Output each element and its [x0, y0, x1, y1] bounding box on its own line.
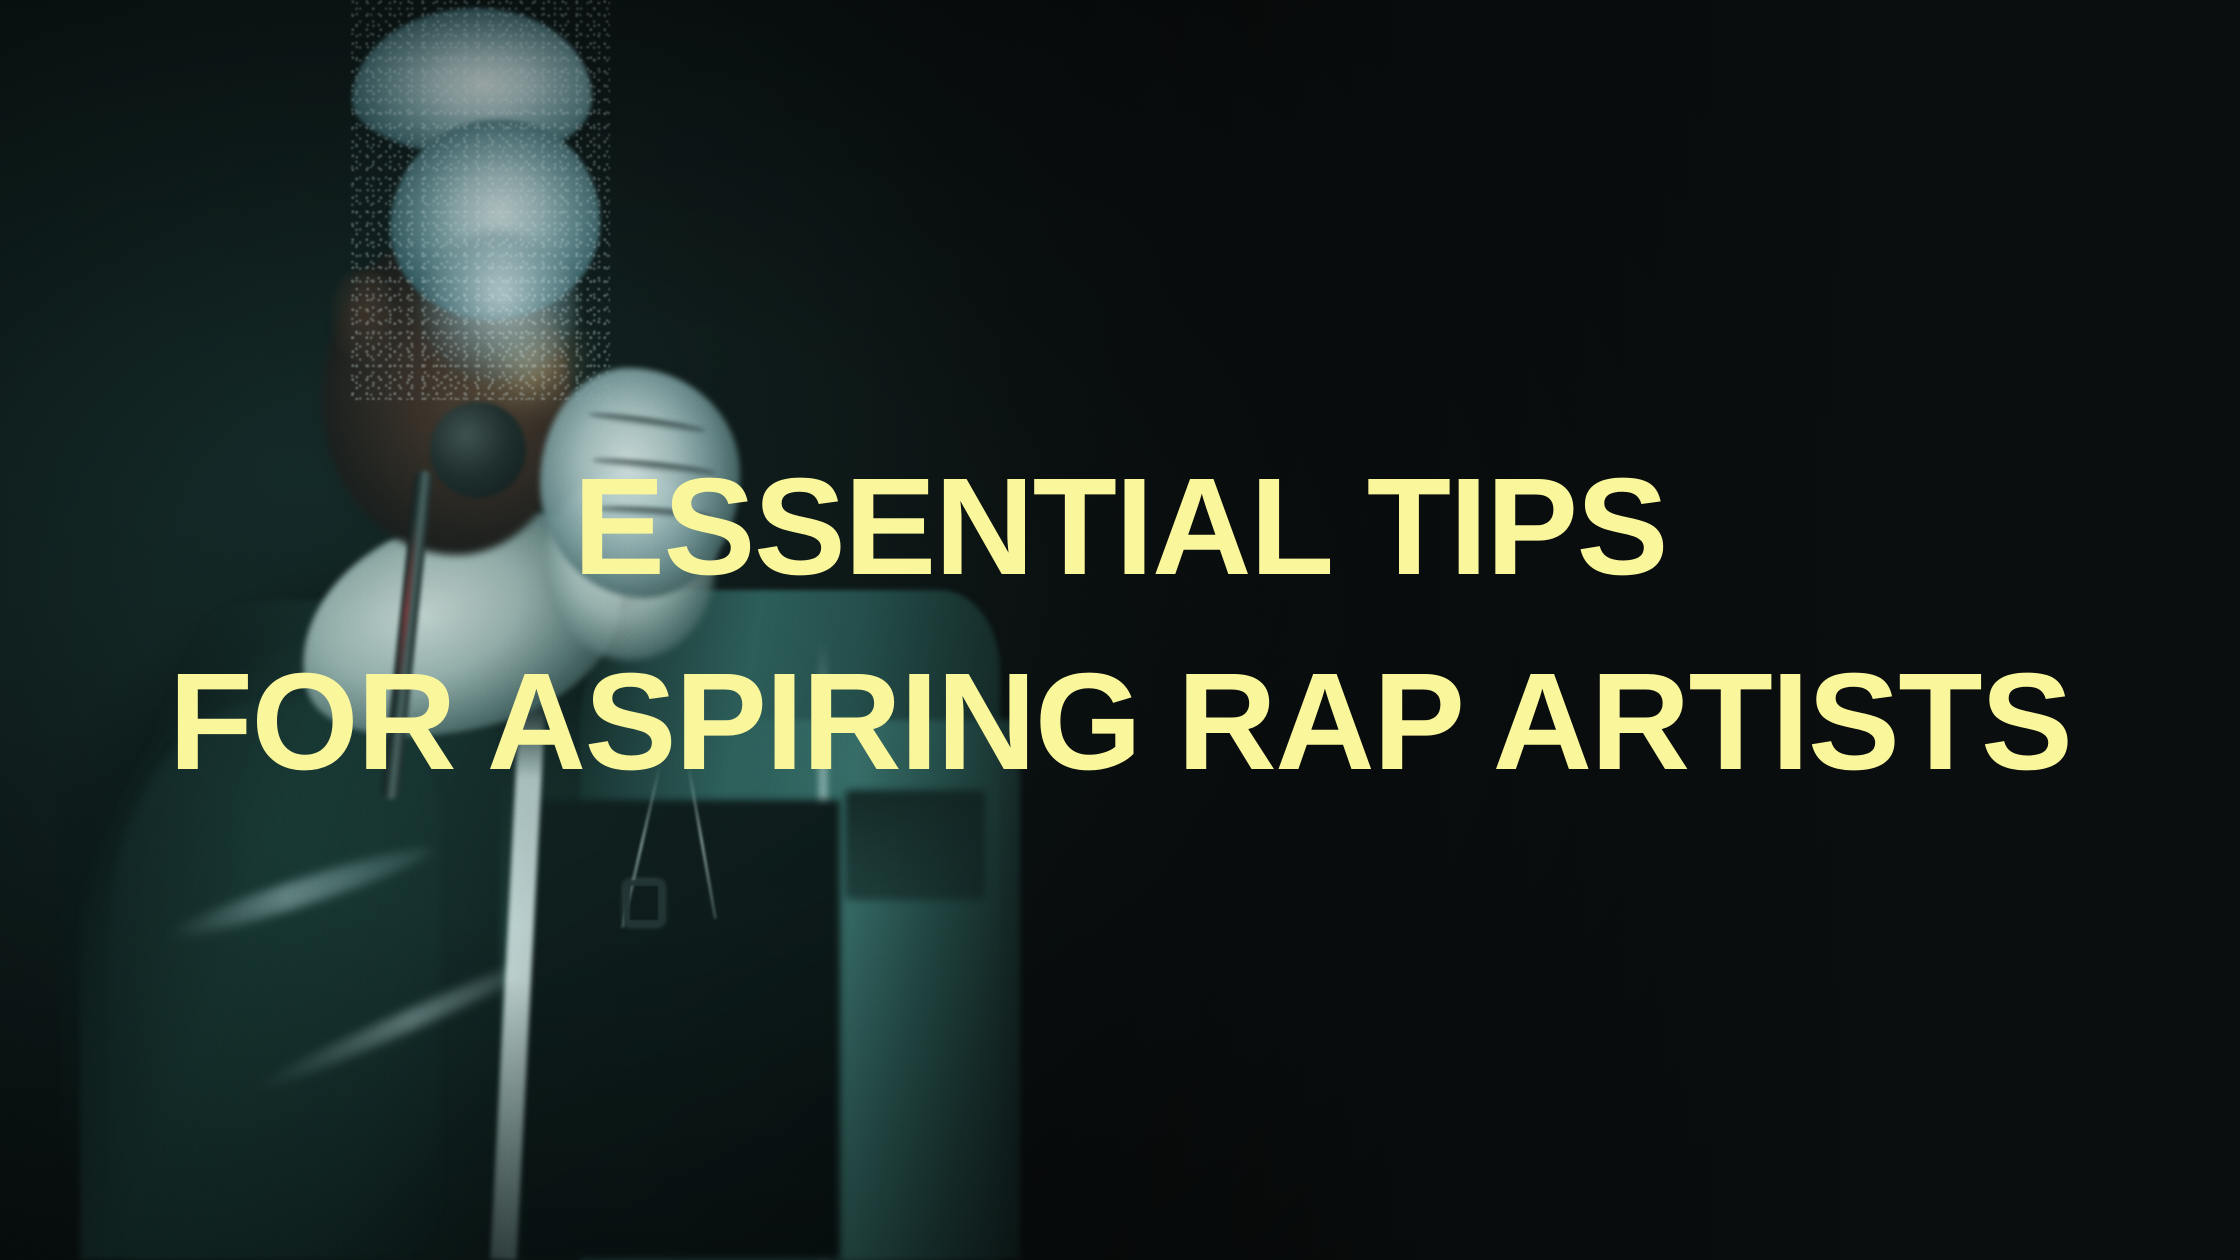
banner-canvas: ESSENTIAL TIPS FOR ASPIRING RAP ARTISTS — [0, 0, 2240, 1260]
background-photo — [0, 0, 2240, 1260]
hair-texture-grain — [350, 0, 610, 400]
subject-chest-shadow — [520, 800, 840, 1260]
subject-hand — [540, 368, 740, 598]
denim-jacket-pocket — [845, 790, 985, 900]
necklace-pendant — [624, 880, 664, 926]
microphone-head — [430, 402, 526, 498]
photo-right-darkness — [1075, 0, 2240, 1260]
